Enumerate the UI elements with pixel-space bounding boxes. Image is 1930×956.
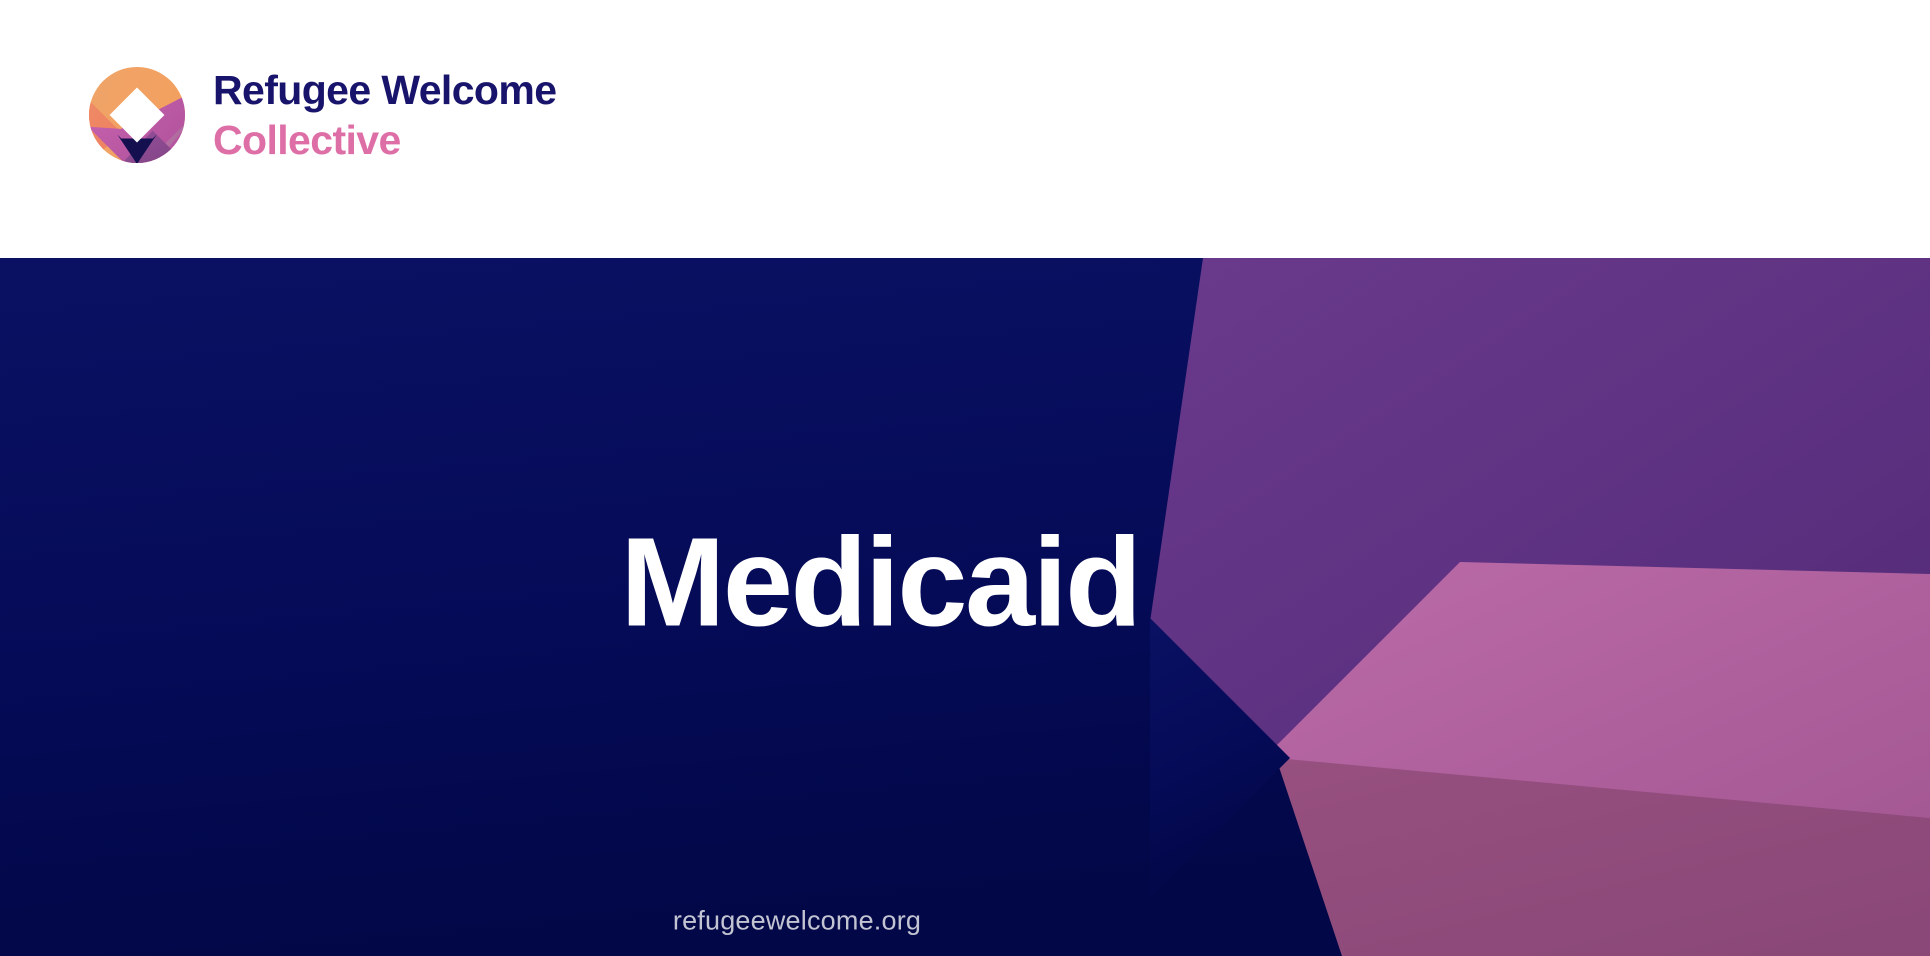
brand-line-1: Refugee Welcome [213,70,556,113]
page-header: Refugee Welcome Collective [0,0,1930,258]
hero-geometric-artwork [0,258,1930,956]
brand-lockup[interactable]: Refugee Welcome Collective [88,66,556,164]
hero-banner: Medicaid refugeewelcome.org [0,258,1930,956]
refugee-welcome-collective-diamond-mark [88,66,186,164]
brand-wordmark: Refugee Welcome Collective [213,70,556,161]
brand-line-2: Collective [213,113,556,161]
slide-root: Refugee Welcome Collective [0,0,1930,956]
